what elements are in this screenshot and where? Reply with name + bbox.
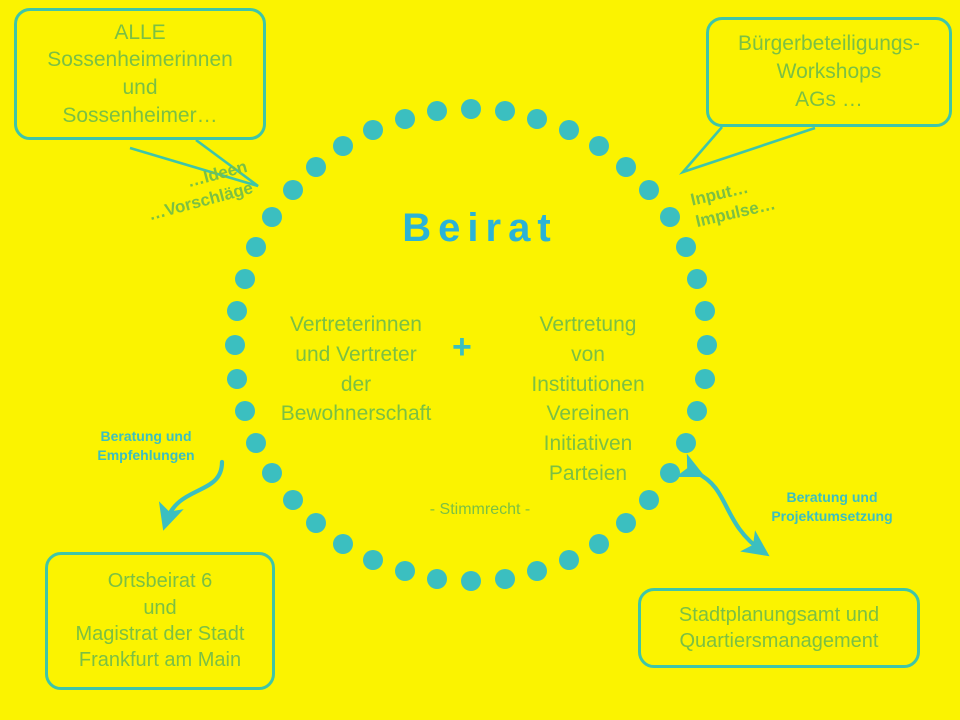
- bubble-alle-sossenheimer: ALLE Sossenheimerinnen und Sossenheimer…: [14, 8, 266, 140]
- box-stadtplanungsamt: Stadtplanungsamt und Quartiersmanagement: [638, 588, 920, 668]
- ring-dot: [395, 109, 415, 129]
- diagram-canvas: Beirat Vertreterinnen und Vertreter der …: [0, 0, 960, 720]
- ring-dot: [395, 561, 415, 581]
- ring-dot: [687, 269, 707, 289]
- center-right-column: Vertretung von Institutionen Vereinen In…: [490, 310, 686, 489]
- center-left-column: Vertreterinnen und Vertreter der Bewohne…: [258, 310, 454, 429]
- ring-dot: [559, 120, 579, 140]
- ring-dot: [246, 433, 266, 453]
- ring-dot: [695, 369, 715, 389]
- plus-icon: +: [452, 330, 472, 364]
- ring-dot: [427, 569, 447, 589]
- bubble-buergerbeteiligungs-workshops: Bürgerbeteiligungs- Workshops AGs …: [706, 17, 952, 127]
- ring-dot: [306, 157, 326, 177]
- ring-dot: [235, 401, 255, 421]
- ring-dot: [225, 335, 245, 355]
- ring-dot: [589, 534, 609, 554]
- label-beratung-und-empfehlungen: Beratung und Empfehlungen: [76, 427, 216, 465]
- ring-dot: [227, 301, 247, 321]
- ring-dot: [427, 101, 447, 121]
- box-stadtplanungsamt-text: Stadtplanungsamt und Quartiersmanagement: [641, 602, 917, 655]
- ring-dot: [527, 109, 547, 129]
- ring-dot: [697, 335, 717, 355]
- ring-dot: [461, 571, 481, 591]
- ring-dot: [695, 301, 715, 321]
- ring-dot: [333, 534, 353, 554]
- ring-dot: [363, 550, 383, 570]
- ring-dot: [227, 369, 247, 389]
- ring-dot: [495, 101, 515, 121]
- ring-dot: [616, 157, 636, 177]
- ring-dot: [495, 569, 515, 589]
- ring-dot: [461, 99, 481, 119]
- box-ortsbeirat: Ortsbeirat 6 und Magistrat der Stadt Fra…: [45, 552, 275, 690]
- ring-dot: [527, 561, 547, 581]
- box-ortsbeirat-text: Ortsbeirat 6 und Magistrat der Stadt Fra…: [48, 568, 272, 674]
- ring-dot: [235, 269, 255, 289]
- ring-dot: [283, 180, 303, 200]
- bubble-buergerbeteiligungs-workshops-text: Bürgerbeteiligungs- Workshops AGs …: [709, 30, 949, 113]
- ring-dot: [687, 401, 707, 421]
- label-beratung-und-projektumsetzung: Beratung und Projektumsetzung: [748, 488, 916, 526]
- ring-dot: [559, 550, 579, 570]
- ring-dot: [262, 463, 282, 483]
- bubble-alle-sossenheimer-text: ALLE Sossenheimerinnen und Sossenheimer…: [17, 19, 263, 130]
- ring-dot: [639, 180, 659, 200]
- ring-dot: [589, 136, 609, 156]
- ring-dot: [333, 136, 353, 156]
- ring-dot: [363, 120, 383, 140]
